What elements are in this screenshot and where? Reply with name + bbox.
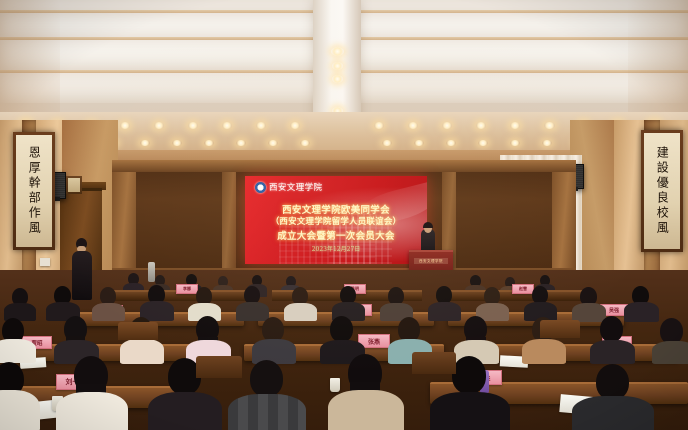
calligraphy-plaque-left: 恩厚幹部作風 xyxy=(13,132,55,250)
downlight xyxy=(478,140,488,146)
downlight xyxy=(374,122,384,129)
audience-front-row xyxy=(0,340,688,430)
wall-plaque-small xyxy=(66,176,82,194)
led-stage-banner: 西安文理学院 西安文理学院欧美同学会 （西安文理学院留学人员联谊会） 成立大会暨… xyxy=(245,176,427,264)
downlight xyxy=(331,47,344,56)
downlight xyxy=(140,140,150,146)
attendee-head xyxy=(596,364,629,400)
plaque-right-text: 建設優良校風 xyxy=(656,146,669,236)
seat-back xyxy=(540,320,580,338)
attendee-body xyxy=(328,390,404,430)
downlight xyxy=(172,140,182,146)
attendee-head xyxy=(250,360,283,397)
downlight xyxy=(510,140,520,146)
downlight xyxy=(476,122,486,129)
downlight xyxy=(442,122,452,129)
downlight xyxy=(120,122,130,129)
attendee-body xyxy=(228,394,306,430)
downlight xyxy=(382,140,392,146)
downlight xyxy=(204,140,214,146)
downlight xyxy=(188,122,198,129)
downlight xyxy=(268,140,278,146)
downlight xyxy=(154,122,164,129)
banner-logo-row: 西安文理学院 xyxy=(255,181,322,193)
downlight xyxy=(300,140,310,146)
downlight xyxy=(544,122,555,129)
attendee-head xyxy=(452,356,486,394)
attendee-body xyxy=(0,390,40,430)
downlight xyxy=(290,122,300,129)
seat-back xyxy=(412,352,456,374)
seat-back xyxy=(196,356,242,378)
downlight xyxy=(446,140,456,146)
downlight xyxy=(414,140,424,146)
banner-title-line-1: 西安文理学院欧美同学会 xyxy=(245,202,427,216)
downlight xyxy=(510,122,520,129)
downlight xyxy=(332,62,343,70)
attendee-body xyxy=(572,396,654,430)
banner-university-name: 西安文理学院 xyxy=(269,181,322,193)
conference-hall-photo: 恩厚幹部作風 建設優良校風 西安文理学院 西安文理学院欧美同学会 （西安文理学院… xyxy=(0,0,688,430)
downlight xyxy=(332,75,343,83)
calligraphy-plaque-right: 建設優良校風 xyxy=(641,130,683,252)
downlight xyxy=(236,140,246,146)
university-emblem-icon xyxy=(255,182,266,193)
attendee-body xyxy=(56,392,128,430)
banner-title-line-2: （西安文理学院留学人员联谊会） xyxy=(245,215,427,227)
banner-date: 2023年12月27日 xyxy=(245,244,427,253)
downlight xyxy=(222,122,232,129)
speaker-hair xyxy=(423,222,433,228)
downlight xyxy=(408,122,418,129)
downlight xyxy=(256,122,266,129)
attendee-body xyxy=(148,392,222,430)
attendee-body xyxy=(430,392,510,430)
banner-title-line-3: 成立大会暨第一次会员大会 xyxy=(245,228,427,242)
downlight xyxy=(542,140,552,146)
seat-back xyxy=(118,322,158,340)
plaque-left-text: 恩厚幹部作風 xyxy=(28,146,41,236)
